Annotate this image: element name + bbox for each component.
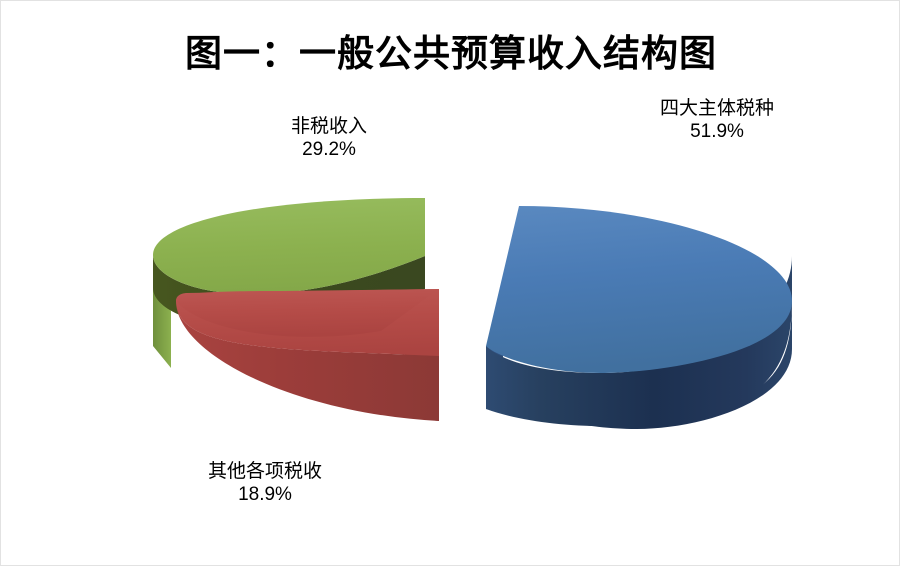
data-label-green-percent: 29.2% (213, 138, 445, 161)
pie-slice-blue[interactable] (486, 206, 792, 429)
data-label-blue-name: 四大主体税种 (601, 97, 833, 120)
data-label-green-name: 非税收入 (213, 115, 445, 138)
pie-slice-red[interactable] (176, 289, 439, 421)
data-label-green: 非税收入 29.2% (213, 115, 445, 161)
data-label-blue: 四大主体税种 51.9% (601, 97, 833, 143)
data-label-red-name: 其他各项税收 (149, 460, 381, 483)
data-label-blue-percent: 51.9% (601, 120, 833, 143)
data-label-red-percent: 18.9% (149, 483, 381, 506)
pie-chart-graphic (1, 1, 900, 566)
chart-canvas: 图一：一般公共预算收入结构图 (0, 0, 900, 566)
data-label-red: 其他各项税收 18.9% (149, 460, 381, 506)
